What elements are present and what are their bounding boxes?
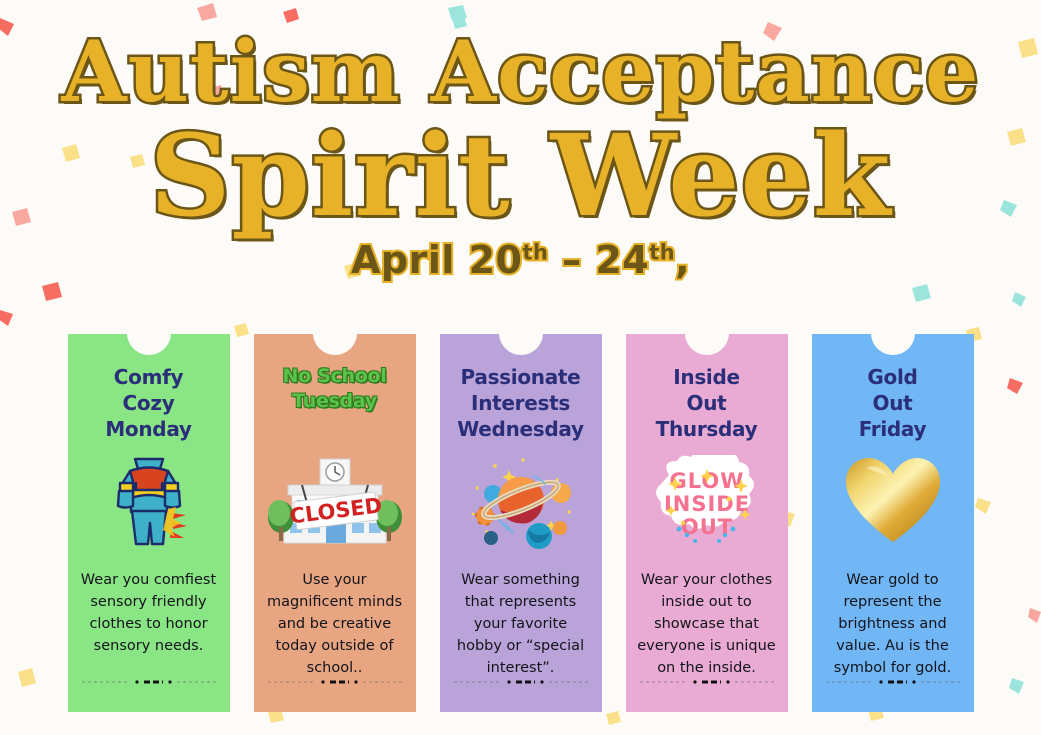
card-divider-wednesday: [452, 680, 592, 684]
card-title-line-2: Out: [821, 390, 965, 416]
date-separator: – 24: [548, 238, 649, 282]
card-notch: [127, 334, 171, 355]
sticker-text-line-2: INSIDE: [663, 492, 749, 516]
date-end-ordinal: th: [649, 240, 675, 264]
card-title-tuesday: No School Tuesday: [263, 364, 407, 444]
card-notch: [313, 334, 357, 355]
spirit-day-card-thursday[interactable]: Inside Out Thursday GLOW INSIDE OUT: [626, 334, 788, 712]
spirit-day-card-tuesday[interactable]: No School Tuesday: [254, 334, 416, 712]
card-body-wednesday: Wear something that represents your favo…: [449, 569, 593, 679]
card-title-line-1: Inside: [635, 364, 779, 390]
card-title-line-1: Comfy: [77, 364, 221, 390]
card-divider-monday: [80, 680, 220, 684]
planets-solar-system-icon: [465, 450, 577, 552]
spirit-day-card-wednesday[interactable]: Passionate Interests Wednesday: [440, 334, 602, 712]
card-notch: [685, 334, 729, 355]
card-divider-tuesday: [266, 680, 406, 684]
card-body-thursday: Wear your clothes inside out to showcase…: [635, 569, 779, 679]
clothing-tracksuit-icon: [108, 451, 190, 551]
poster-headline: Autism Acceptance Spirit Week April 20th…: [0, 0, 1041, 282]
card-art-thursday: GLOW INSIDE OUT: [635, 448, 779, 553]
card-title-friday: Gold Out Friday: [821, 364, 965, 444]
event-date-line: April 20th – 24th,: [0, 238, 1041, 282]
spirit-week-poster: Autism Acceptance Spirit Week April 20th…: [0, 0, 1041, 735]
spirit-day-card-friday[interactable]: Gold Out Friday: [812, 334, 974, 712]
glow-inside-out-sticker-icon: GLOW INSIDE OUT: [653, 455, 761, 547]
card-art-tuesday: CLOSED: [263, 448, 407, 553]
card-title-line-1: Gold: [821, 364, 965, 390]
spirit-day-card-row: Comfy Cozy Monday: [0, 334, 1041, 716]
card-art-wednesday: [449, 448, 593, 553]
spirit-day-card-monday[interactable]: Comfy Cozy Monday: [68, 334, 230, 712]
card-divider-thursday: [638, 680, 778, 684]
card-body-friday: Wear gold to represent the brightness an…: [821, 569, 965, 679]
date-trailing-comma: ,: [675, 238, 690, 282]
card-title-line-3: Thursday: [635, 416, 779, 442]
date-start: April 20: [351, 238, 523, 282]
card-body-monday: Wear you comfiest sensory friendly cloth…: [77, 569, 221, 657]
card-title-wednesday: Passionate Interests Wednesday: [449, 364, 593, 444]
headline-line-1: Autism Acceptance: [0, 30, 1041, 114]
card-title-line-2: Interests: [449, 390, 593, 416]
card-body-tuesday: Use your magnificent minds and be creati…: [263, 569, 407, 679]
gold-heart-icon: [844, 456, 942, 546]
card-title-line-2: Out: [635, 390, 779, 416]
headline-line-2: Spirit Week: [0, 118, 1041, 236]
card-art-monday: [77, 448, 221, 553]
card-title-line-3: Friday: [821, 416, 965, 442]
card-title-line-1: Passionate: [449, 364, 593, 390]
card-notch: [499, 334, 543, 355]
card-title-thursday: Inside Out Thursday: [635, 364, 779, 444]
card-title-monday: Comfy Cozy Monday: [77, 364, 221, 444]
card-title-line-2: Tuesday: [263, 389, 407, 414]
card-art-friday: [821, 448, 965, 553]
card-title-line-2: Cozy: [77, 390, 221, 416]
school-closed-icon: CLOSED: [264, 455, 406, 547]
date-start-ordinal: th: [523, 240, 549, 264]
card-title-line-1: No School: [263, 364, 407, 389]
card-notch: [871, 334, 915, 355]
card-title-line-3: Wednesday: [449, 416, 593, 442]
card-divider-friday: [824, 680, 964, 684]
card-title-line-3: Monday: [77, 416, 221, 442]
